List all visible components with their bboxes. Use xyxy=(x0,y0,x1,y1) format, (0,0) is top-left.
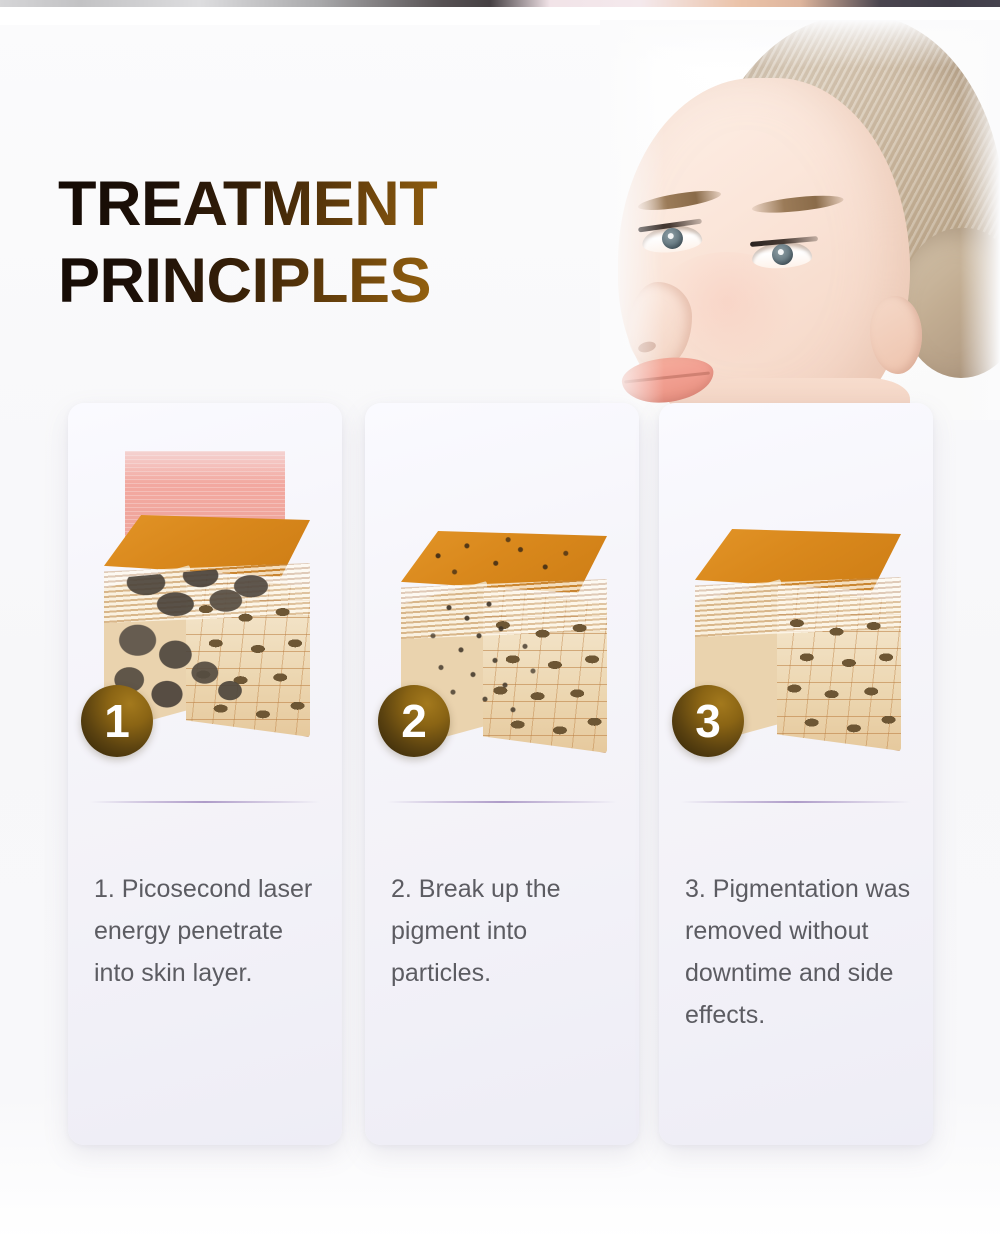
step-card-2[interactable]: 2 2. Break up the pigment into particles… xyxy=(365,403,639,1145)
page-title-line-2: PRINCIPLES xyxy=(58,246,431,316)
step-text-2: 2. Break up the pigment into particles. xyxy=(391,868,623,994)
step-badge-3: 3 xyxy=(672,685,744,757)
card-divider-3 xyxy=(681,801,911,803)
step-text-1: 1. Picosecond laser energy penetrate int… xyxy=(94,868,326,994)
step-text-3: 3. Pigmentation was removed without down… xyxy=(685,868,917,1036)
card-divider-2 xyxy=(387,801,617,803)
step-1-illustration: 1 xyxy=(68,403,342,801)
infographic-page: TREATMENT PRINCIPLES 1 1. Picosecond l xyxy=(0,0,1000,1241)
step-card-1[interactable]: 1 1. Picosecond laser energy penetrate i… xyxy=(68,403,342,1145)
card-divider-1 xyxy=(90,801,320,803)
previous-section-sliver xyxy=(0,0,1000,7)
step-3-illustration: 3 xyxy=(659,403,933,801)
step-badge-1: 1 xyxy=(81,685,153,757)
cell-nuclei-3 xyxy=(777,609,901,751)
step-2-illustration: 2 xyxy=(365,403,639,801)
steps-card-row: 1 1. Picosecond laser energy penetrate i… xyxy=(0,403,1000,1145)
page-title: TREATMENT PRINCIPLES xyxy=(58,166,678,320)
page-title-line-1: TREATMENT xyxy=(58,169,437,239)
step-card-3[interactable]: 3 3. Pigmentation was removed without do… xyxy=(659,403,933,1145)
step-badge-2: 2 xyxy=(378,685,450,757)
